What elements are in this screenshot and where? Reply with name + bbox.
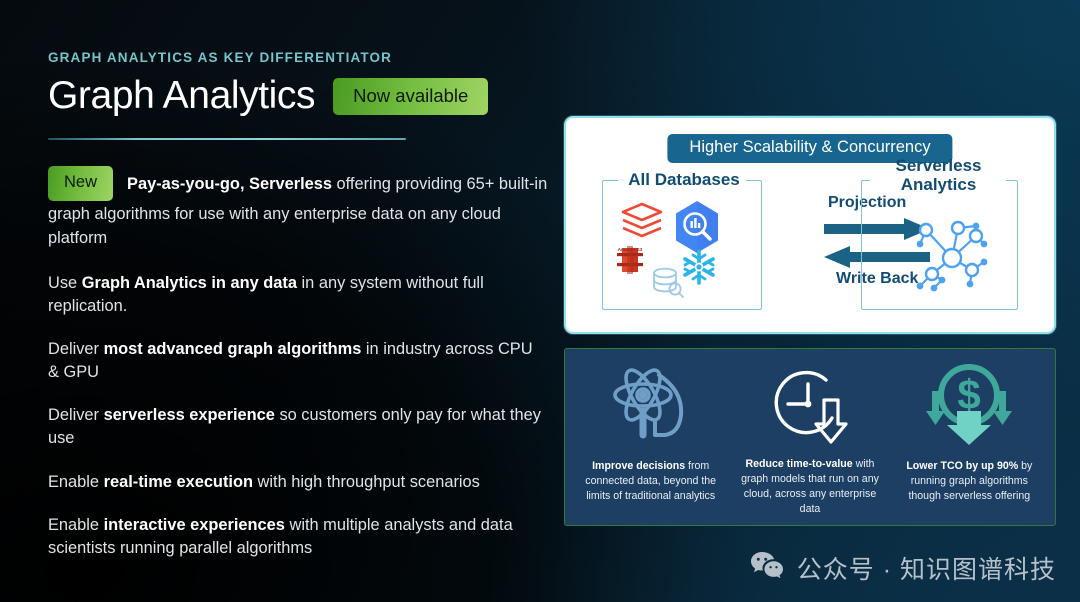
- new-badge: New: [48, 166, 113, 201]
- benefit-caption: Improve decisions from connected data, b…: [577, 459, 724, 504]
- benefit-caption: Lower TCO by up 90% by running graph alg…: [896, 459, 1043, 504]
- dollar-down-arrow-icon: $: [916, 359, 1022, 455]
- emphasis-text: Reduce time-to-value: [746, 458, 853, 470]
- body-text: with high throughput scenarios: [253, 473, 480, 491]
- slide-canvas: GRAPH ANALYTICS AS KEY DIFFERENTIATOR Gr…: [0, 0, 1080, 602]
- emphasis-text: Pay-as-you-go, Serverless: [127, 175, 332, 193]
- page-title: Graph Analytics: [48, 76, 315, 117]
- atom-magnifier-icon: [603, 359, 699, 455]
- benefit-improve-decisions: Improve decisions from connected data, b…: [571, 359, 730, 517]
- body-text: Use: [48, 274, 82, 292]
- title-divider: [48, 138, 406, 141]
- clock-down-arrow-icon: [762, 359, 858, 453]
- benefit-caption: Reduce time-to-value with graph models t…: [736, 457, 883, 517]
- emphasis-text: interactive experiences: [104, 516, 285, 534]
- emphasis-text: Lower TCO by up 90%: [906, 460, 1018, 472]
- bullet-list: NewPay-as-you-go, Serverless offering pr…: [48, 168, 548, 559]
- database-logo-icon: [650, 266, 684, 303]
- benefits-panel: Improve decisions from connected data, b…: [564, 348, 1056, 526]
- wechat-watermark: 公众号 · 知识图谱科技: [750, 550, 1056, 586]
- emphasis-text: serverless experience: [104, 406, 275, 424]
- bullet-serverless-experience: Deliver serverless experience so custome…: [48, 404, 548, 449]
- bullet-advanced-algorithms: Deliver most advanced graph algorithms i…: [48, 338, 548, 383]
- wechat-icon: [750, 551, 784, 586]
- amazon-s3-caption: Amazon S3: [607, 247, 653, 252]
- architecture-diagram-panel: Higher Scalability & Concurrency All Dat…: [564, 116, 1056, 334]
- body-text: Deliver: [48, 340, 104, 358]
- bullet-interactive-experiences: Enable interactive experiences with mult…: [48, 514, 548, 559]
- body-text: Enable: [48, 516, 104, 534]
- body-text: Enable: [48, 473, 104, 491]
- body-text: Deliver: [48, 406, 104, 424]
- emphasis-text: real-time execution: [104, 473, 253, 491]
- eyebrow-text: GRAPH ANALYTICS AS KEY DIFFERENTIATOR: [48, 50, 548, 65]
- now-available-badge: Now available: [333, 78, 488, 115]
- serverless-analytics-label: ServerlessAnalytics: [861, 156, 1016, 194]
- bullet-real-time-execution: Enable real-time execution with high thr…: [48, 471, 548, 494]
- benefit-lower-tco: $Lower TCO by up 90% by running graph al…: [890, 359, 1049, 517]
- graph-network-icon: [904, 214, 1000, 307]
- emphasis-text: Graph Analytics in any data: [82, 274, 297, 292]
- all-databases-label: All Databases: [624, 170, 744, 189]
- databricks-logo-icon: [620, 202, 664, 245]
- bullet-any-data: Use Graph Analytics in any data in any s…: [48, 272, 548, 317]
- database-logos-cluster: Amazon S3: [606, 200, 758, 306]
- left-content-column: GRAPH ANALYTICS AS KEY DIFFERENTIATOR Gr…: [48, 50, 548, 560]
- wechat-watermark-text: 公众号 · 知识图谱科技: [797, 550, 1056, 586]
- benefit-reduce-time-to-value: Reduce time-to-value with graph models t…: [730, 359, 889, 517]
- title-row: Graph Analytics Now available: [48, 76, 548, 117]
- snowflake-logo-icon: [680, 248, 718, 291]
- bullet-pay-as-you-go: NewPay-as-you-go, Serverless offering pr…: [48, 168, 548, 250]
- emphasis-text: most advanced graph algorithms: [104, 340, 362, 358]
- svg-text:$: $: [958, 371, 981, 418]
- emphasis-text: Improve decisions: [592, 460, 685, 472]
